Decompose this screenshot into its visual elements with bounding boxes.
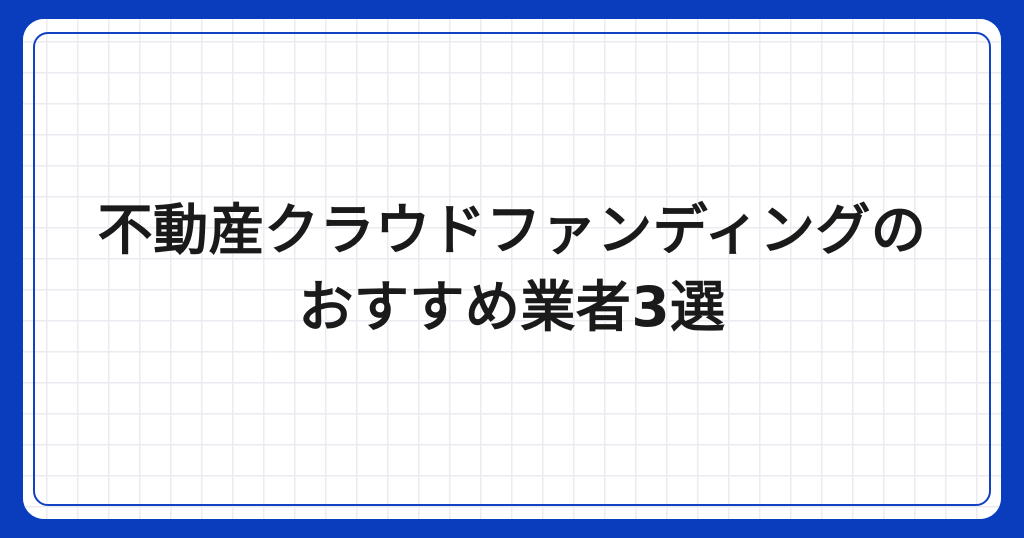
headline-line-2: おすすめ業者3選 [57,269,967,346]
content-panel: 不動産クラウドファンディングの おすすめ業者3選 [23,19,1001,519]
headline: 不動産クラウドファンディングの おすすめ業者3選 [23,192,1001,346]
thumbnail-card: 不動産クラウドファンディングの おすすめ業者3選 [0,0,1024,538]
headline-line-1: 不動産クラウドファンディングの [57,192,967,269]
